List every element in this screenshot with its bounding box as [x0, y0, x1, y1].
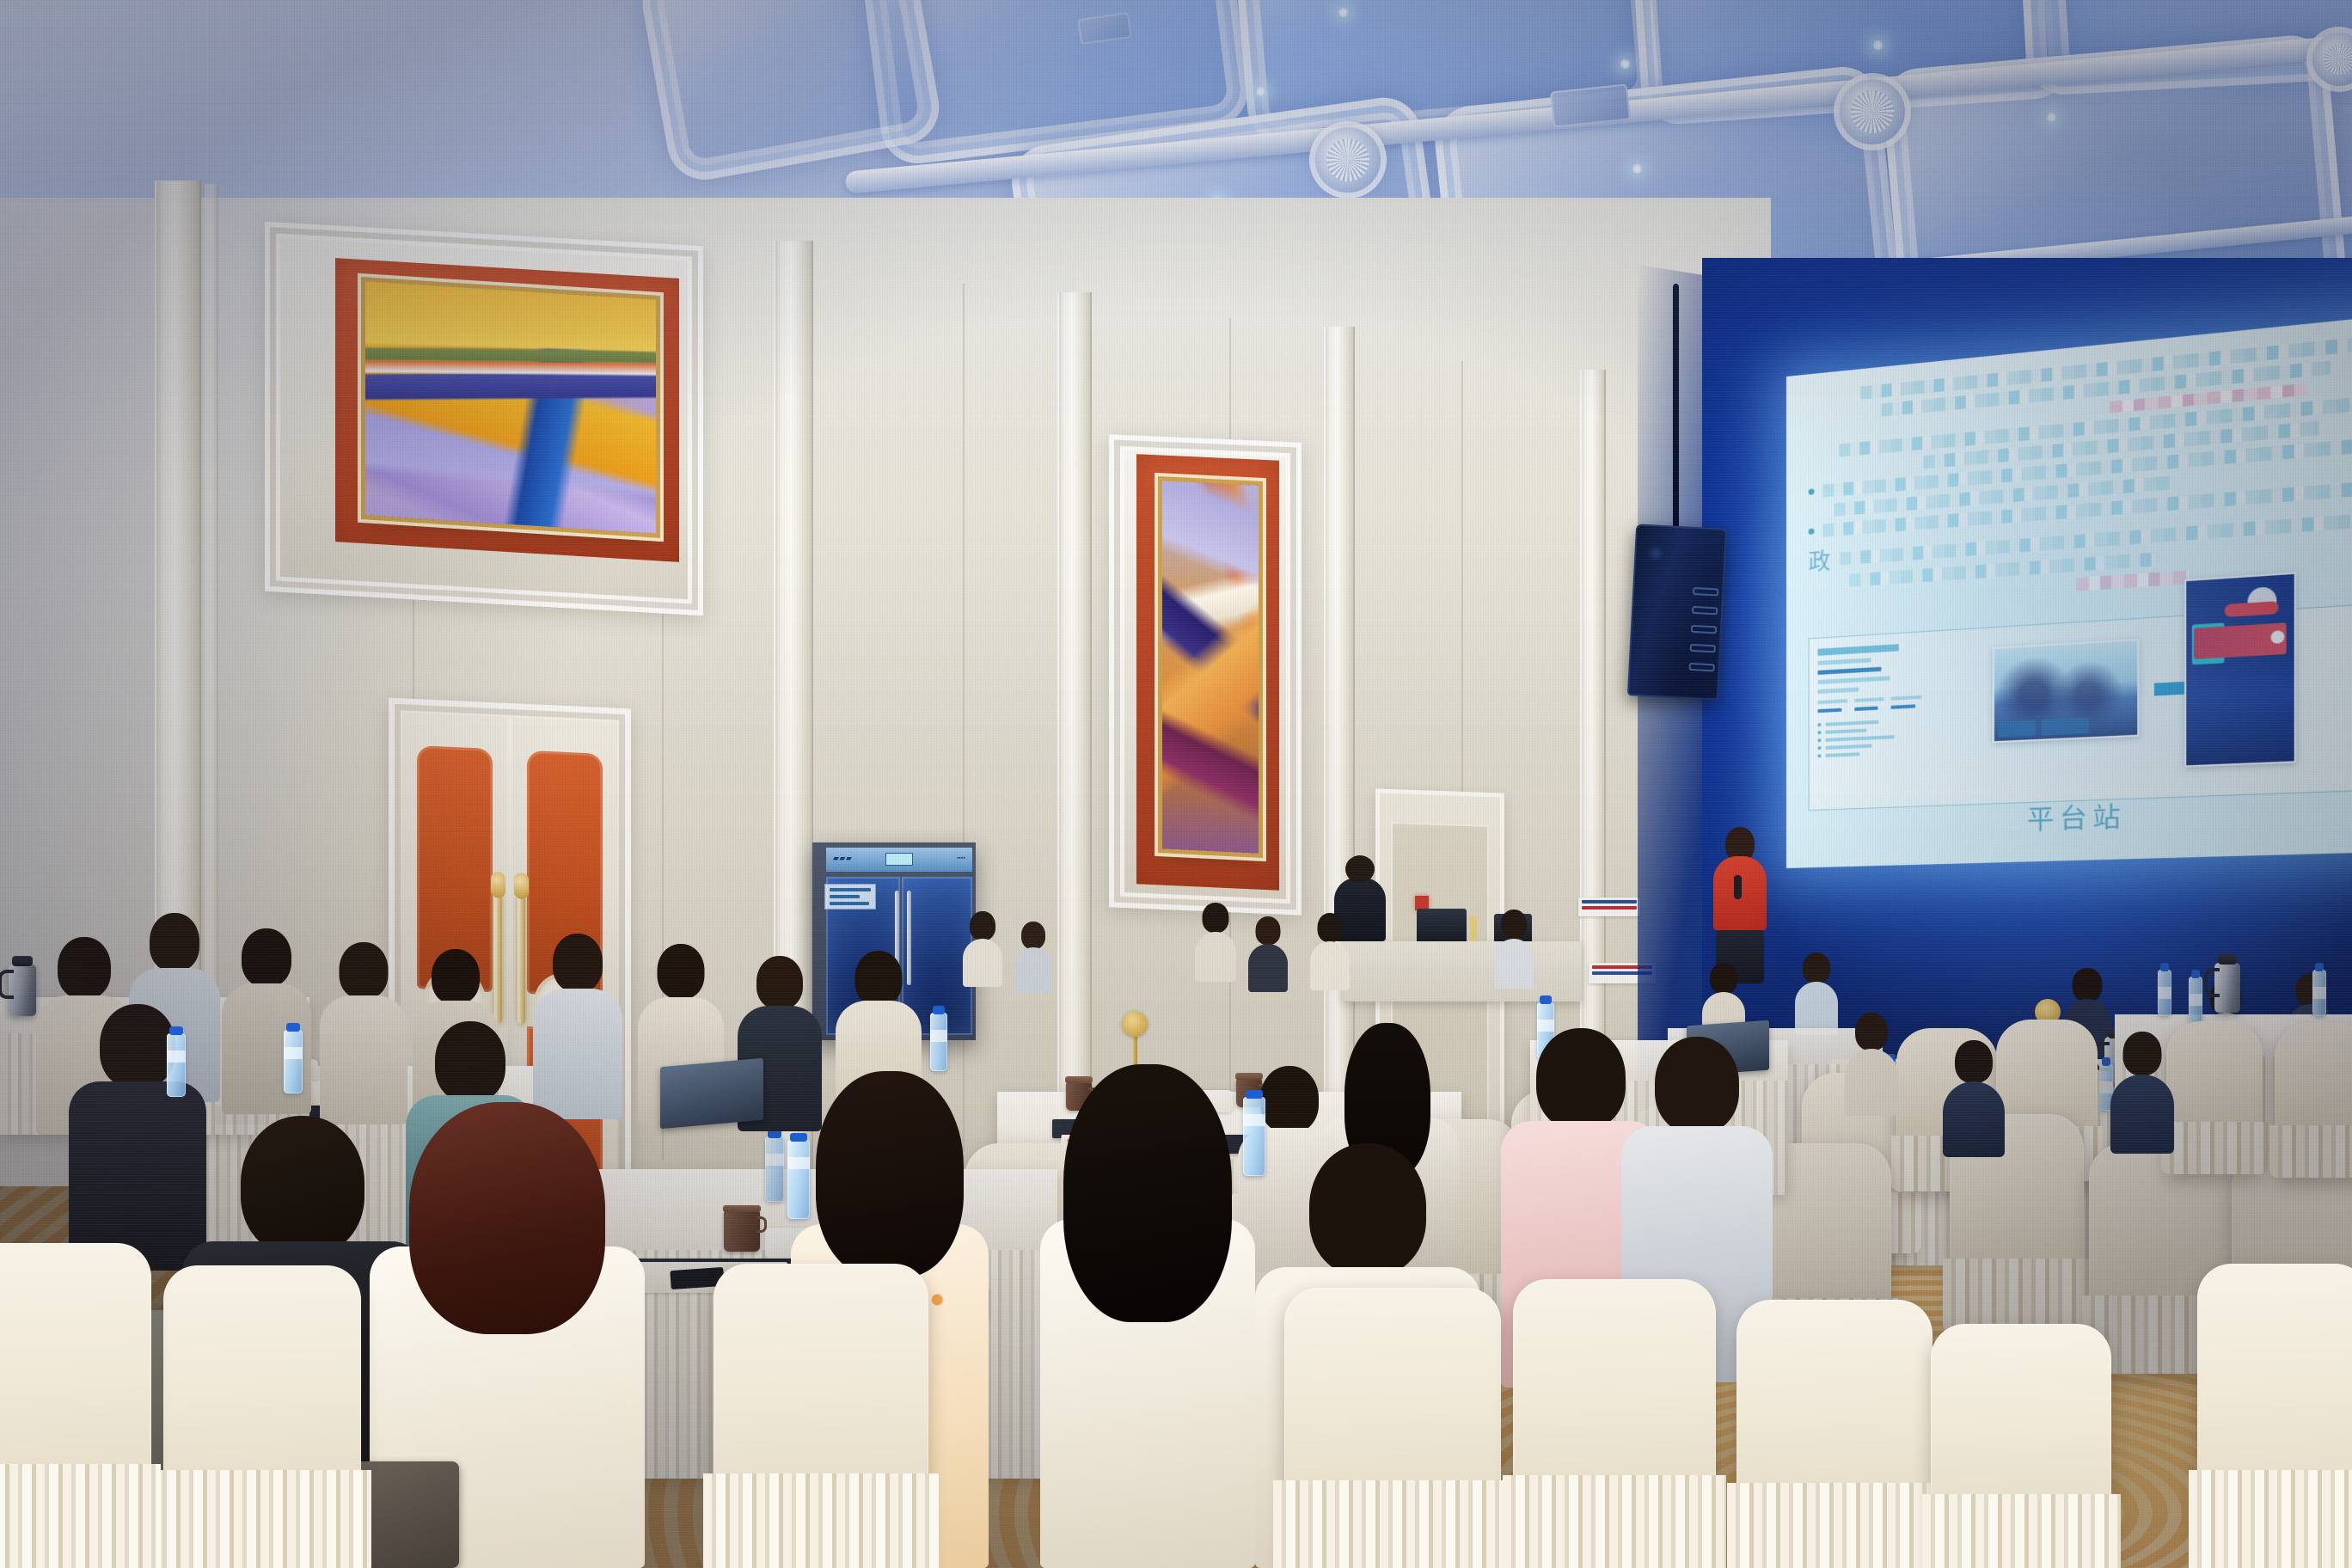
cabinet-sublabel: ▪▪▪▪ [957, 855, 965, 861]
card-line [1817, 667, 1881, 675]
presenter [1712, 827, 1767, 982]
ceiling-rosette [1840, 79, 1905, 144]
conference-hall-photo: 政 [0, 0, 2352, 1568]
card-line [1817, 676, 1890, 684]
abstract-vertical-painting [1162, 481, 1259, 853]
banquet-chair[interactable] [163, 1265, 361, 1568]
bullet-dot-icon [1809, 528, 1815, 535]
wall-sign [1578, 897, 1640, 916]
speaker-mount-pole [1673, 284, 1679, 535]
attendee-navy-polo [2110, 1032, 2174, 1154]
office-photo-thumbnail [1993, 639, 2140, 743]
bullet-dot-icon [1809, 488, 1815, 495]
av-control-table [1341, 941, 1582, 1001]
card-bullet [1817, 734, 1921, 743]
speaker-grill [1690, 644, 1716, 653]
ceiling-downlight [1255, 86, 1266, 97]
card-bullet [1817, 750, 1921, 757]
ceiling-downlight [1338, 7, 1349, 18]
speaker-grill [1692, 606, 1718, 616]
abstract-landscape-painting [365, 281, 656, 533]
line-array-speaker [1627, 524, 1727, 700]
cabinet-header: ▰▰▰ ▪▪▪▪ [826, 848, 972, 872]
banquet-chair[interactable] [2275, 1023, 2352, 1178]
thermos-flask[interactable] [9, 965, 36, 1016]
attendee [1845, 1013, 1898, 1116]
water-bottle[interactable] [2158, 970, 2171, 1016]
attendee [1310, 913, 1350, 990]
ceiling-downlight [1872, 40, 1883, 51]
card-bullet [1817, 726, 1921, 735]
attendee [320, 942, 407, 1124]
banquet-chair[interactable] [714, 1264, 928, 1568]
speaker-driver [1646, 543, 1666, 563]
thumb-tag [2042, 717, 2089, 735]
attendee [1248, 916, 1288, 992]
banquet-chair[interactable] [0, 1243, 151, 1568]
card-detail-block [1817, 643, 1921, 763]
water-bottle[interactable] [2189, 977, 2202, 1023]
water-bottle[interactable] [930, 1013, 947, 1071]
banquet-chair[interactable] [2197, 1264, 2352, 1568]
card-line [1817, 687, 1859, 694]
door-handle[interactable] [518, 895, 525, 1024]
card-bullet [1817, 718, 1921, 726]
banquet-chair[interactable] [1736, 1300, 1932, 1568]
projection-screen: 政 [1786, 315, 2352, 868]
app-badge [2225, 601, 2279, 617]
attendee [533, 934, 622, 1119]
ceiling-downlight [1620, 58, 1631, 70]
attendee [1195, 903, 1236, 982]
speaker-grill [1688, 663, 1714, 672]
wall-pilaster [1057, 292, 1092, 1186]
cabinet-brand-mark: ▰▰▰ [833, 854, 852, 863]
slide-redacted-line [2076, 570, 2190, 591]
slide-product-card [1809, 604, 2352, 812]
water-bottle[interactable] [765, 1136, 784, 1202]
av-laptop[interactable] [1417, 909, 1467, 941]
water-bottle[interactable] [2312, 970, 2326, 1016]
card-line [1817, 658, 1871, 665]
water-bottle[interactable] [284, 1030, 303, 1093]
painting-canvas [1162, 481, 1259, 853]
thermos-flask[interactable] [2214, 963, 2240, 1013]
ceiling-downlight [2046, 112, 2057, 123]
av-table-number [1470, 916, 1477, 941]
attendee-dark-shirt [1943, 1040, 2005, 1157]
banquet-chair[interactable] [1931, 1324, 2111, 1568]
attendee-laptop[interactable] [660, 1058, 763, 1129]
attendee [1494, 910, 1534, 989]
tea-mug[interactable] [724, 1210, 760, 1252]
thumb-tag [1998, 720, 2036, 738]
painting-canvas [365, 281, 656, 533]
sign-text-bar [1582, 906, 1637, 910]
attendee-black-long-hair [1040, 1071, 1255, 1568]
speaker-grill [1691, 625, 1717, 634]
card-bullet [1817, 742, 1921, 750]
card-title-line [1817, 644, 1898, 656]
ceiling-rosette [1315, 127, 1381, 193]
cabinet-label [824, 884, 876, 910]
ceiling-downlight [1632, 163, 1643, 175]
flow-arrow-icon [2154, 682, 2189, 696]
speaker-grill [1693, 587, 1718, 597]
attendee [1014, 922, 1052, 994]
banquet-chair[interactable] [1284, 1288, 1501, 1568]
banquet-chair[interactable] [2166, 1021, 2263, 1174]
water-bottle[interactable] [167, 1033, 186, 1097]
attendee [963, 911, 1002, 987]
banquet-chair[interactable] [1513, 1279, 1716, 1568]
sign-text-bar [1582, 900, 1637, 903]
cabinet-display [885, 853, 913, 866]
handheld-microphone [1734, 875, 1742, 899]
mobile-app-screenshot [2184, 573, 2296, 768]
slide-heading-char: 政 [1809, 543, 1834, 577]
attendee [1795, 952, 1838, 1035]
